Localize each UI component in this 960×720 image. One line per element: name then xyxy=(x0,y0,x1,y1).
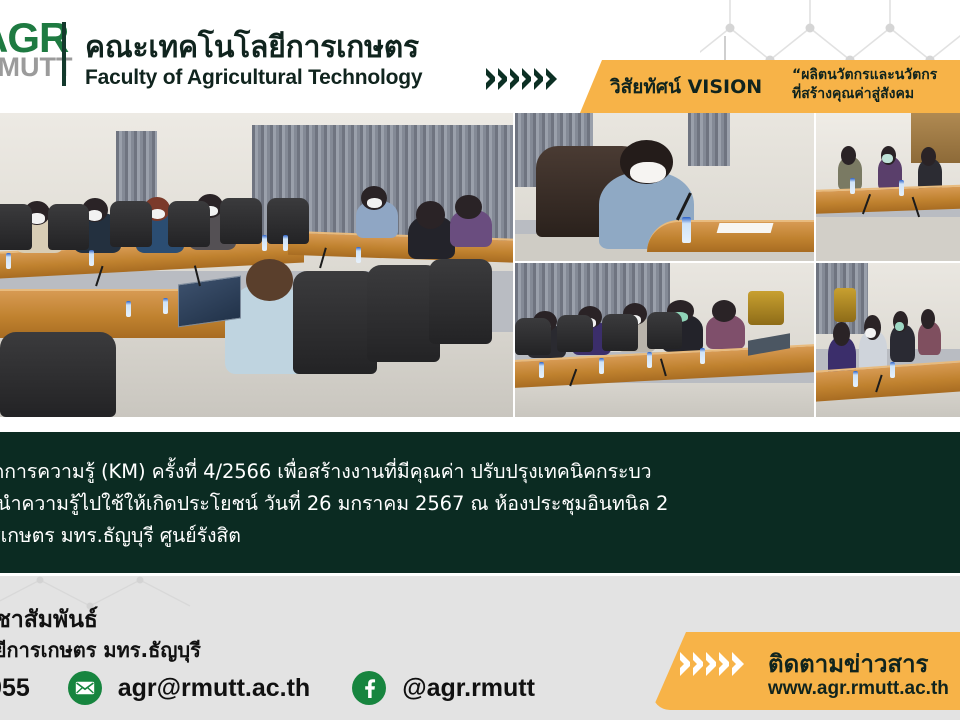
facebook-icon[interactable] xyxy=(352,671,386,705)
header-tick-mark xyxy=(724,36,726,62)
envelope-icon xyxy=(68,671,102,705)
vision-label: วิสัยทัศน์ VISION xyxy=(610,72,762,102)
chevron-right-icon xyxy=(546,68,557,90)
photo-chairperson-speaking xyxy=(515,113,814,261)
facebook-handle[interactable]: @agr.rmutt xyxy=(402,674,535,703)
header-chevron-group xyxy=(486,68,557,90)
faculty-name-english: Faculty of Agricultural Technology xyxy=(85,66,422,90)
vision-quote: “ผลิตนวัตกรและนวัตกร ที่สร้างคุณค่าสู่สั… xyxy=(792,66,937,104)
announcement-line-1: ประชุมคณะกรรมการจัดการความรู้ (KM) ครั้ง… xyxy=(0,456,652,487)
photo-attendees-right-top xyxy=(816,113,960,261)
announcement-line-3: นคณบดีคณะเทคโนโลยีการเกษตร มทร.ธัญบุรี ศ… xyxy=(0,520,241,551)
chevron-right-icon xyxy=(732,652,744,676)
poster-root: AGR RMUTT คณะเทคโนโลยีการเกษตร Faculty o… xyxy=(0,0,960,720)
email-address[interactable]: agr@rmutt.ac.th xyxy=(118,674,310,703)
footer-contact-row: 92-1955 agr@rmutt.ac.th @agr.rmutt xyxy=(0,671,561,705)
logo-divider xyxy=(62,22,66,86)
photo-collage xyxy=(0,113,960,417)
header: AGR RMUTT คณะเทคโนโลยีการเกษตร Faculty o… xyxy=(0,0,960,113)
footer-title: ประชาสัมพันธ์ xyxy=(0,602,98,638)
vision-quote-line-1: “ผลิตนวัตกรและนวัตกร xyxy=(792,66,937,85)
follow-us-ribbon[interactable]: ติดตามข่าวสาร www.agr.rmutt.ac.th xyxy=(652,632,960,710)
photo-main-meeting-room-wide xyxy=(0,113,513,417)
photo-attendees-row xyxy=(515,263,814,417)
faculty-name-thai: คณะเทคโนโลยีการเกษตร xyxy=(85,24,419,71)
photo-attendees-right-bottom xyxy=(816,263,960,417)
announcement-line-2: พัฒนาความรู้ และสามารถนำความรู้ไปใช้ให้เ… xyxy=(0,488,668,519)
announcement-box: ประชุมคณะกรรมการจัดการความรู้ (KM) ครั้ง… xyxy=(0,432,960,573)
follow-chevron-group xyxy=(680,652,744,676)
vision-ribbon: วิสัยทัศน์ VISION “ผลิตนวัตกรและนวัตกร ท… xyxy=(580,60,960,113)
website-url[interactable]: www.agr.rmutt.ac.th xyxy=(768,678,949,700)
footer-subtitle: เทคโนโลยีการเกษตร มทร.ธัญบุรี xyxy=(0,634,201,666)
phone-number: 92-1955 xyxy=(0,674,30,703)
vision-quote-line-2: ที่สร้างคุณค่าสู่สังคม xyxy=(792,85,937,104)
